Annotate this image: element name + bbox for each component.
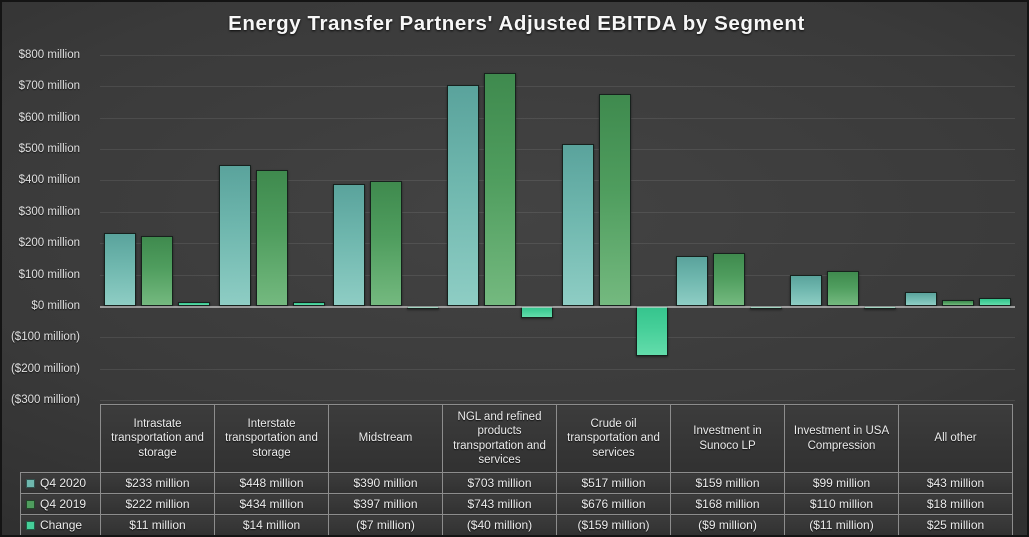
table-cell: $110 million <box>785 494 899 515</box>
table-cell: $676 million <box>557 494 671 515</box>
table-column-header: All other <box>899 405 1013 473</box>
table-cell: ($11 million) <box>785 515 899 536</box>
table-cell: ($7 million) <box>329 515 443 536</box>
plot-area: $800 million$700 million$600 million$500… <box>100 55 1015 400</box>
bar <box>905 292 937 305</box>
bar <box>484 73 516 306</box>
chart-screenshot: Energy Transfer Partners' Adjusted EBITD… <box>0 0 1029 537</box>
y-axis-tick-label: $500 million <box>0 143 80 155</box>
series-legend-label: Q4 2020 <box>21 473 101 494</box>
legend-swatch-icon <box>26 479 35 488</box>
table-cell: $397 million <box>329 494 443 515</box>
bar <box>713 253 745 306</box>
table-row: Q4 2019$222 million$434 million$397 mill… <box>21 494 1013 515</box>
bar <box>447 85 479 305</box>
y-axis-tick-label: $700 million <box>0 80 80 92</box>
table-column-header: Crude oil transportation and services <box>557 405 671 473</box>
table-column-header: Midstream <box>329 405 443 473</box>
bar <box>979 298 1011 306</box>
table-row: Q4 2020$233 million$448 million$390 mill… <box>21 473 1013 494</box>
bar <box>104 233 136 306</box>
y-axis-tick-label: $600 million <box>0 112 80 124</box>
bar <box>219 165 251 306</box>
table-cell: ($9 million) <box>671 515 785 536</box>
legend-swatch-icon <box>26 521 35 530</box>
table-cell: $18 million <box>899 494 1013 515</box>
zero-line <box>100 306 1015 308</box>
table-cell: $99 million <box>785 473 899 494</box>
bar <box>562 144 594 306</box>
table-cell: $43 million <box>899 473 1013 494</box>
gridline <box>100 400 1015 401</box>
table-cell: $703 million <box>443 473 557 494</box>
bars-layer <box>100 55 1015 400</box>
table-row: Change$11 million$14 million($7 million)… <box>21 515 1013 536</box>
y-axis-tick-label: $300 million <box>0 206 80 218</box>
bar <box>676 256 708 306</box>
bar <box>827 271 859 306</box>
chart-title: Energy Transfer Partners' Adjusted EBITD… <box>2 12 1029 36</box>
series-legend-label: Change <box>21 515 101 536</box>
table-cell: $434 million <box>215 494 329 515</box>
bar <box>370 181 402 306</box>
y-axis-tick-label: $800 million <box>0 49 80 61</box>
table-cell: $222 million <box>101 494 215 515</box>
series-legend-label: Q4 2019 <box>21 494 101 515</box>
bar <box>333 184 365 306</box>
table-cell: $168 million <box>671 494 785 515</box>
table-cell: ($159 million) <box>557 515 671 536</box>
y-axis-tick-label: ($200 million) <box>0 363 80 375</box>
table-cell: $517 million <box>557 473 671 494</box>
table-column-header: Interstate transportation and storage <box>215 405 329 473</box>
table-column-header: NGL and refined products transportation … <box>443 405 557 473</box>
table-cell: $448 million <box>215 473 329 494</box>
table-cell: $159 million <box>671 473 785 494</box>
bar <box>599 94 631 306</box>
table-column-header: Intrastate transportation and storage <box>101 405 215 473</box>
bar <box>256 170 288 306</box>
table-column-header: Investment in USA Compression <box>785 405 899 473</box>
table-cell: $11 million <box>101 515 215 536</box>
table-cell: $390 million <box>329 473 443 494</box>
data-table: Intrastate transportation and storageInt… <box>20 404 1013 536</box>
table-cell: $25 million <box>899 515 1013 536</box>
bar <box>636 306 668 356</box>
y-axis-tick-label: ($100 million) <box>0 331 80 343</box>
y-axis-tick-label: $100 million <box>0 269 80 281</box>
table-body: Q4 2020$233 million$448 million$390 mill… <box>21 473 1013 536</box>
table-column-header: Investment in Sunoco LP <box>671 405 785 473</box>
table-corner-cell <box>21 405 101 473</box>
table-cell: ($40 million) <box>443 515 557 536</box>
table-cell: $233 million <box>101 473 215 494</box>
legend-swatch-icon <box>26 500 35 509</box>
table-header-row: Intrastate transportation and storageInt… <box>21 405 1013 473</box>
table-cell: $14 million <box>215 515 329 536</box>
y-axis-tick-label: $400 million <box>0 174 80 186</box>
bar <box>790 275 822 306</box>
y-axis-tick-label: $200 million <box>0 237 80 249</box>
table-cell: $743 million <box>443 494 557 515</box>
y-axis-tick-label: $0 million <box>0 300 80 312</box>
bar <box>141 236 173 306</box>
table-head: Intrastate transportation and storageInt… <box>21 405 1013 473</box>
